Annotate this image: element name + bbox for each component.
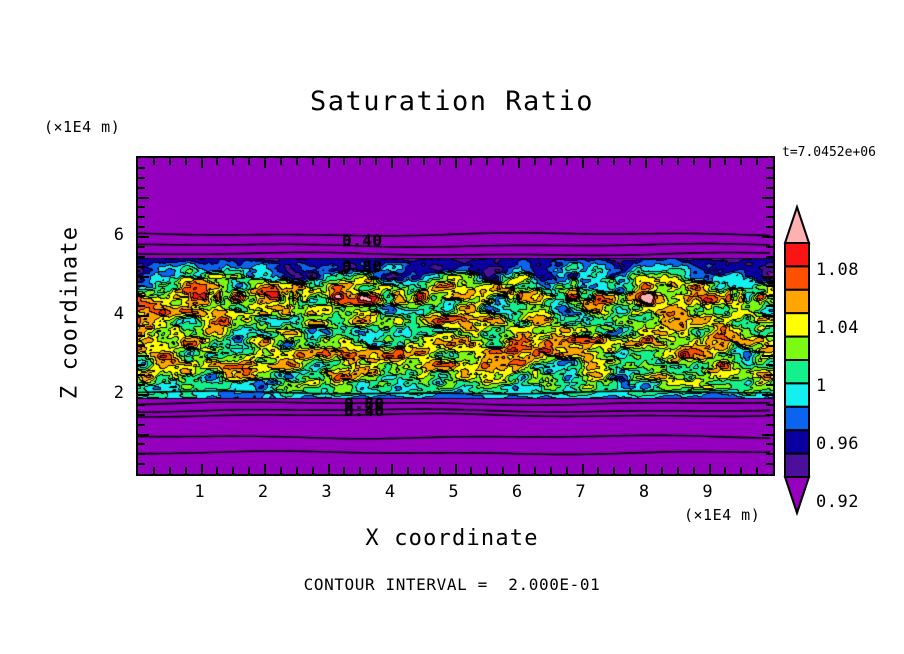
- x-tick-top: [296, 158, 298, 165]
- x-tick-bottom: [582, 464, 584, 474]
- y-tick-right: [766, 216, 773, 218]
- x-tick-bottom: [740, 467, 742, 474]
- x-tick-top: [423, 158, 425, 165]
- y-tick-left: [138, 197, 149, 199]
- y-axis-title: Z coordinate: [58, 213, 83, 413]
- y-tick-left: [138, 434, 149, 436]
- x-tick-bottom: [343, 467, 345, 474]
- x-tick-top: [486, 158, 488, 165]
- y-tick-label: 4: [84, 304, 124, 324]
- y-tick-right: [766, 305, 773, 307]
- x-tick-bottom: [328, 464, 330, 474]
- y-tick-right: [766, 443, 773, 445]
- x-tick-top: [502, 158, 504, 165]
- x-tick-top: [677, 158, 679, 165]
- x-tick-top: [248, 158, 250, 165]
- x-tick-bottom: [709, 464, 711, 474]
- y-tick-right: [762, 276, 773, 278]
- y-tick-right: [766, 374, 773, 376]
- colorbar-tick-label: 0.92: [816, 492, 859, 512]
- colorbar-band: [785, 360, 809, 383]
- y-tick-right: [766, 266, 773, 268]
- contour-level-label: 0.80: [342, 257, 383, 276]
- y-tick-right: [766, 206, 773, 208]
- x-tick-bottom: [423, 467, 425, 474]
- y-tick-right: [762, 394, 773, 396]
- x-tick-top: [201, 158, 203, 168]
- x-tick-bottom: [693, 467, 695, 474]
- x-tick-top: [280, 158, 282, 165]
- colorbar-band: [785, 430, 809, 453]
- contour-level-label: 0.40: [344, 401, 385, 420]
- y-tick-left: [138, 285, 145, 287]
- y-tick-left: [138, 374, 145, 376]
- x-tick-top: [375, 158, 377, 165]
- x-tick-bottom: [153, 467, 155, 474]
- colorbar-band: [785, 313, 809, 336]
- x-tick-top: [359, 158, 361, 165]
- x-tick-bottom: [296, 467, 298, 474]
- x-tick-bottom: [534, 467, 536, 474]
- y-tick-right: [766, 424, 773, 426]
- x-tick-bottom: [518, 464, 520, 474]
- colorbar-band: [785, 290, 809, 313]
- y-tick-right: [766, 177, 773, 179]
- y-tick-left: [138, 414, 145, 416]
- colorbar-band: [785, 407, 809, 430]
- colorbar-cap-top: [785, 207, 809, 243]
- x-tick-bottom: [264, 464, 266, 474]
- x-tick-bottom: [280, 467, 282, 474]
- x-tick-bottom: [248, 467, 250, 474]
- x-tick-bottom: [391, 464, 393, 474]
- y-tick-left: [138, 335, 145, 337]
- y-tick-right: [766, 295, 773, 297]
- y-tick-right: [766, 256, 773, 258]
- y-tick-left: [138, 404, 145, 406]
- x-tick-top: [391, 158, 393, 168]
- x-tick-bottom: [169, 467, 171, 474]
- y-tick-right: [762, 236, 773, 238]
- x-tick-bottom: [216, 467, 218, 474]
- x-tick-top: [693, 158, 695, 165]
- contour-interval-caption: CONTOUR INTERVAL = 2.000E-01: [0, 575, 904, 594]
- x-tick-bottom: [677, 467, 679, 474]
- y-tick-right: [766, 187, 773, 189]
- x-tick-label: 7: [561, 482, 601, 502]
- colorbar-band: [785, 266, 809, 289]
- x-tick-top: [709, 158, 711, 168]
- y-tick-left: [138, 236, 149, 238]
- contour-plot-figure: Saturation Ratio (×1E4 m) t=7.0452e+06 0…: [0, 0, 904, 654]
- x-tick-top: [455, 158, 457, 168]
- x-tick-top: [756, 158, 758, 165]
- x-tick-bottom: [613, 467, 615, 474]
- y-tick-right: [766, 285, 773, 287]
- x-tick-bottom: [312, 467, 314, 474]
- colorbar-swatches: [780, 200, 900, 520]
- y-tick-left: [138, 355, 149, 357]
- x-tick-bottom: [550, 467, 552, 474]
- x-tick-label: 3: [307, 482, 347, 502]
- y-tick-right: [766, 453, 773, 455]
- y-tick-left: [138, 226, 145, 228]
- x-tick-top: [407, 158, 409, 165]
- x-tick-top: [582, 158, 584, 168]
- x-tick-label: 2: [243, 482, 283, 502]
- x-tick-top: [613, 158, 615, 165]
- y-tick-left: [138, 424, 145, 426]
- x-tick-top: [439, 158, 441, 165]
- y-tick-right: [762, 355, 773, 357]
- x-tick-label: 8: [624, 482, 664, 502]
- x-tick-top: [264, 158, 266, 168]
- x-tick-bottom: [359, 467, 361, 474]
- x-tick-top: [566, 158, 568, 165]
- x-tick-top: [343, 158, 345, 165]
- colorbar-band: [785, 454, 809, 477]
- x-tick-label: 6: [497, 482, 537, 502]
- y-tick-right: [766, 335, 773, 337]
- x-tick-top: [470, 158, 472, 165]
- x-tick-bottom: [486, 467, 488, 474]
- y-tick-left: [138, 187, 145, 189]
- x-tick-top: [169, 158, 171, 165]
- y-tick-left: [138, 177, 145, 179]
- colorbar-band: [785, 337, 809, 360]
- x-tick-bottom: [629, 467, 631, 474]
- x-tick-top: [724, 158, 726, 165]
- y-tick-left: [138, 453, 145, 455]
- y-tick-right: [766, 414, 773, 416]
- x-tick-bottom: [185, 467, 187, 474]
- y-tick-left: [138, 325, 145, 327]
- y-tick-right: [766, 226, 773, 228]
- y-tick-left: [138, 443, 145, 445]
- y-tick-left: [138, 364, 145, 366]
- x-tick-bottom: [455, 464, 457, 474]
- y-tick-left: [138, 384, 145, 386]
- y-tick-right: [766, 167, 773, 169]
- colorbar-tick-label: 1: [816, 376, 827, 396]
- x-axis-unit-label: (×1E4 m): [684, 506, 760, 524]
- y-tick-right: [766, 345, 773, 347]
- x-tick-bottom: [470, 467, 472, 474]
- x-tick-bottom: [661, 467, 663, 474]
- contour-field: [138, 158, 773, 474]
- y-tick-left: [138, 394, 149, 396]
- y-tick-left: [138, 246, 145, 248]
- x-axis-title: X coordinate: [0, 526, 904, 551]
- y-tick-right: [766, 463, 773, 465]
- x-tick-top: [629, 158, 631, 165]
- y-tick-right: [766, 325, 773, 327]
- y-tick-left: [138, 256, 145, 258]
- x-tick-label: 9: [688, 482, 728, 502]
- x-tick-bottom: [502, 467, 504, 474]
- y-tick-left: [138, 295, 145, 297]
- x-tick-top: [661, 158, 663, 165]
- y-tick-left: [138, 345, 145, 347]
- y-tick-left: [138, 315, 149, 317]
- x-tick-bottom: [756, 467, 758, 474]
- contour-level-label: 0.40: [342, 231, 383, 250]
- y-tick-right: [766, 246, 773, 248]
- x-tick-top: [216, 158, 218, 165]
- x-tick-bottom: [407, 467, 409, 474]
- time-stamp-annotation: t=7.0452e+06: [782, 145, 876, 160]
- y-tick-left: [138, 463, 145, 465]
- x-tick-top: [232, 158, 234, 165]
- x-tick-label: 5: [434, 482, 474, 502]
- y-tick-right: [766, 404, 773, 406]
- y-tick-right: [762, 197, 773, 199]
- x-tick-label: 4: [370, 482, 410, 502]
- x-tick-top: [534, 158, 536, 165]
- x-tick-bottom: [439, 467, 441, 474]
- y-tick-left: [138, 206, 145, 208]
- y-tick-left: [138, 305, 145, 307]
- x-tick-top: [550, 158, 552, 165]
- y-tick-right: [766, 364, 773, 366]
- x-tick-top: [518, 158, 520, 168]
- x-tick-bottom: [201, 464, 203, 474]
- x-tick-top: [153, 158, 155, 165]
- x-tick-bottom: [375, 467, 377, 474]
- y-tick-left: [138, 266, 145, 268]
- x-tick-top: [312, 158, 314, 165]
- y-tick-label: 6: [84, 225, 124, 245]
- x-tick-top: [645, 158, 647, 168]
- x-tick-top: [328, 158, 330, 168]
- x-tick-bottom: [724, 467, 726, 474]
- x-tick-top: [597, 158, 599, 165]
- x-tick-bottom: [597, 467, 599, 474]
- colorbar-cap-bottom: [785, 477, 809, 513]
- y-tick-right: [766, 384, 773, 386]
- y-tick-left: [138, 216, 145, 218]
- y-tick-right: [762, 315, 773, 317]
- y-axis-unit-label: (×1E4 m): [44, 118, 120, 136]
- y-tick-left: [138, 167, 145, 169]
- colorbar-band: [785, 243, 809, 266]
- x-tick-top: [185, 158, 187, 165]
- y-tick-label: 2: [84, 383, 124, 403]
- colorbar-tick-label: 0.96: [816, 434, 859, 454]
- y-tick-left: [138, 276, 149, 278]
- x-tick-bottom: [232, 467, 234, 474]
- x-tick-top: [740, 158, 742, 165]
- colorbar: 1.081.0410.960.92: [780, 200, 900, 520]
- page-title: Saturation Ratio: [0, 86, 904, 117]
- colorbar-band: [785, 383, 809, 406]
- x-tick-label: 1: [180, 482, 220, 502]
- x-tick-bottom: [566, 467, 568, 474]
- y-tick-right: [762, 434, 773, 436]
- x-tick-bottom: [645, 464, 647, 474]
- plot-frame: 0.400.800.800.40: [136, 156, 775, 476]
- colorbar-tick-label: 1.08: [816, 260, 859, 280]
- colorbar-tick-label: 1.04: [816, 318, 859, 338]
